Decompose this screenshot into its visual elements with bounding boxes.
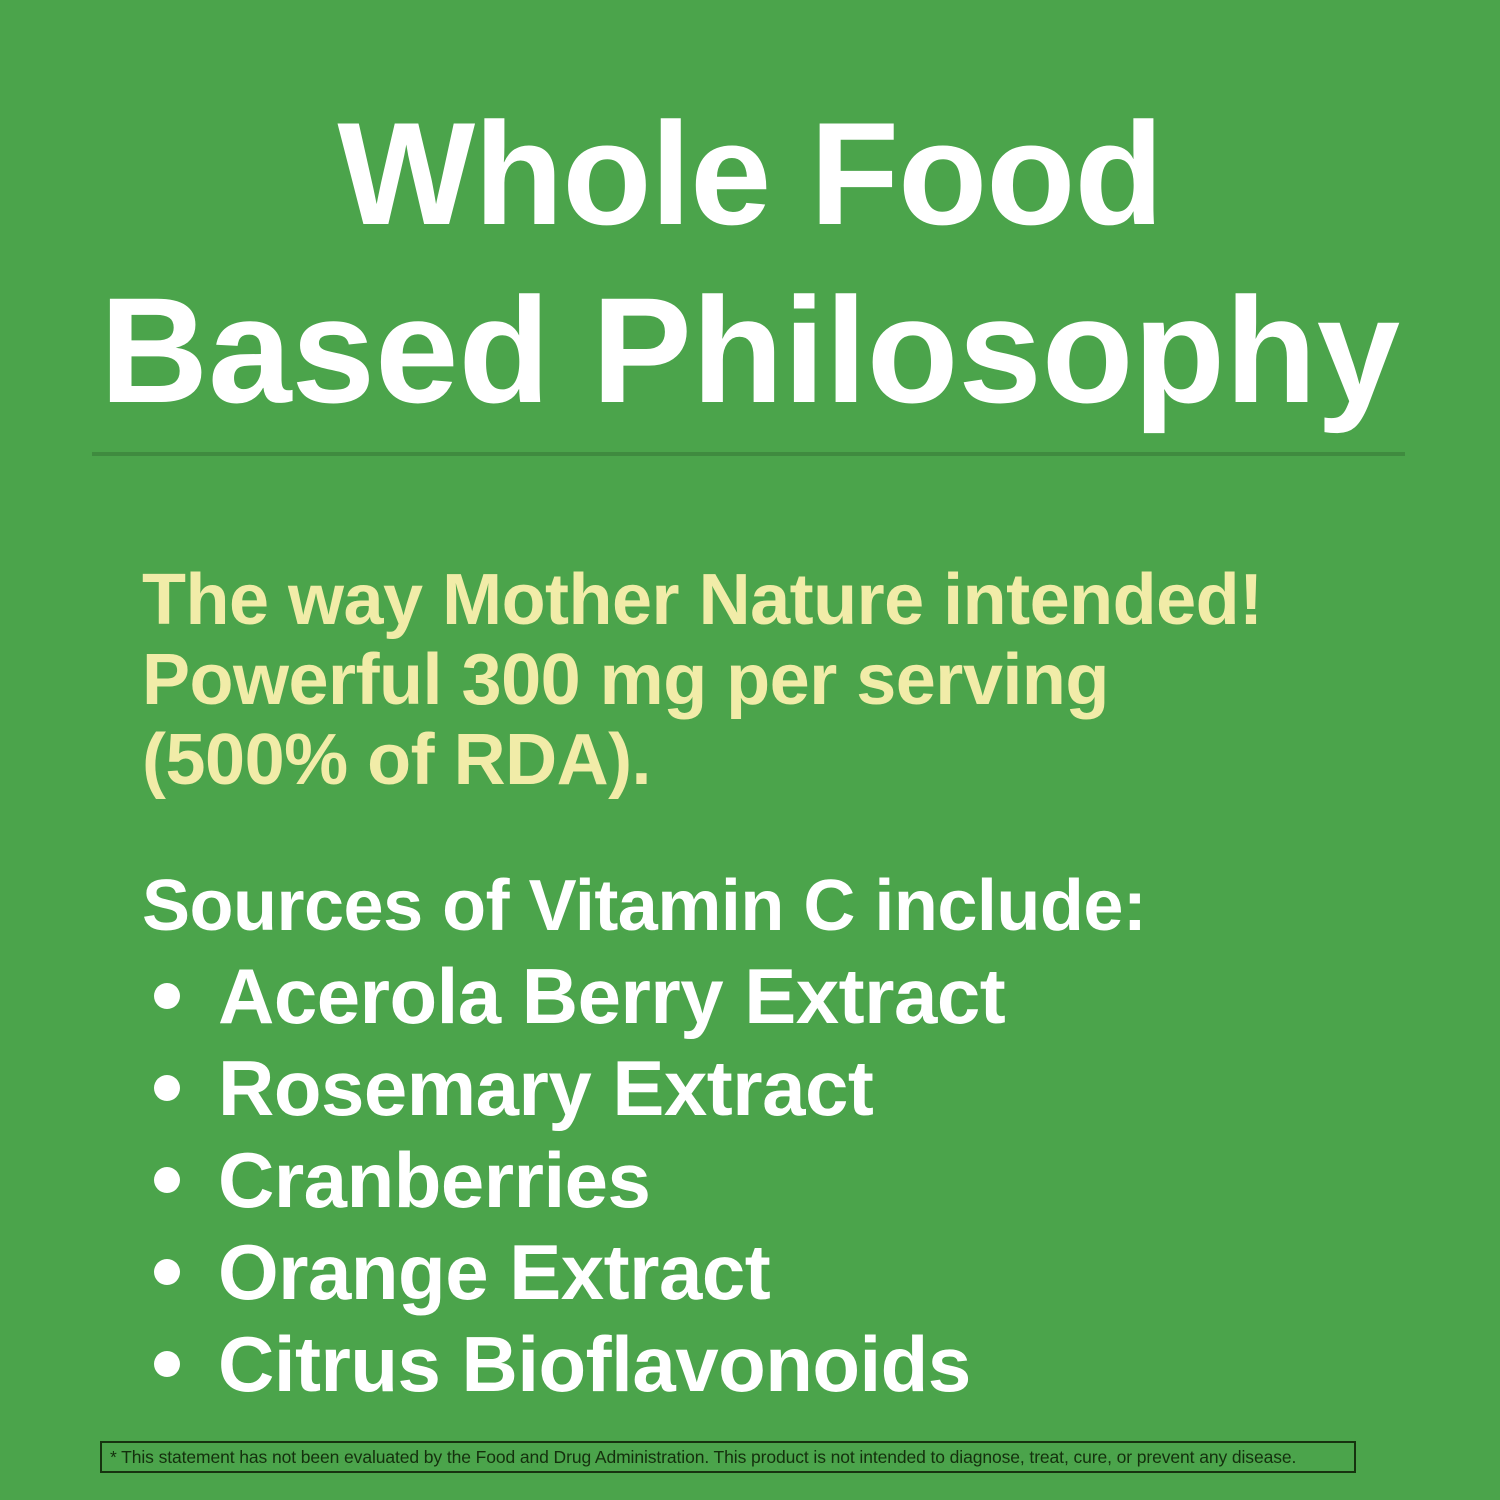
source-item-label: Citrus Bioflavonoids	[218, 1322, 971, 1406]
list-item: Rosemary Extract	[142, 1042, 1442, 1134]
bullet-dot-icon	[154, 1259, 180, 1285]
title-line-1: Whole Food	[0, 86, 1500, 262]
source-item-label: Orange Extract	[218, 1230, 770, 1314]
disclaimer-text: * This statement has not been evaluated …	[110, 1447, 1296, 1467]
title-line-2: Based Philosophy	[0, 262, 1500, 438]
sources-list: Acerola Berry Extract Rosemary Extract C…	[142, 950, 1442, 1410]
list-item: Acerola Berry Extract	[142, 950, 1442, 1042]
highlight-paragraph: The way Mother Nature intended! Powerful…	[142, 560, 1432, 800]
bullet-dot-icon	[154, 983, 180, 1009]
product-info-poster: Whole Food Based Philosophy The way Moth…	[0, 0, 1500, 1500]
page-title: Whole Food Based Philosophy	[0, 86, 1500, 438]
title-divider	[92, 452, 1405, 456]
list-item: Orange Extract	[142, 1226, 1442, 1318]
list-item: Cranberries	[142, 1134, 1442, 1226]
bullet-dot-icon	[154, 1351, 180, 1377]
highlight-line-1: The way Mother Nature intended!	[142, 560, 1432, 640]
source-item-label: Acerola Berry Extract	[218, 954, 1005, 1038]
highlight-line-3: (500% of RDA).	[142, 720, 1432, 800]
source-item-label: Rosemary Extract	[218, 1046, 873, 1130]
disclaimer-box: * This statement has not been evaluated …	[100, 1441, 1356, 1473]
highlight-line-2: Powerful 300 mg per serving	[142, 640, 1432, 720]
source-item-label: Cranberries	[218, 1138, 650, 1222]
bullet-dot-icon	[154, 1075, 180, 1101]
sources-heading: Sources of Vitamin C include:	[142, 866, 1146, 946]
list-item: Citrus Bioflavonoids	[142, 1318, 1442, 1410]
bullet-dot-icon	[154, 1167, 180, 1193]
